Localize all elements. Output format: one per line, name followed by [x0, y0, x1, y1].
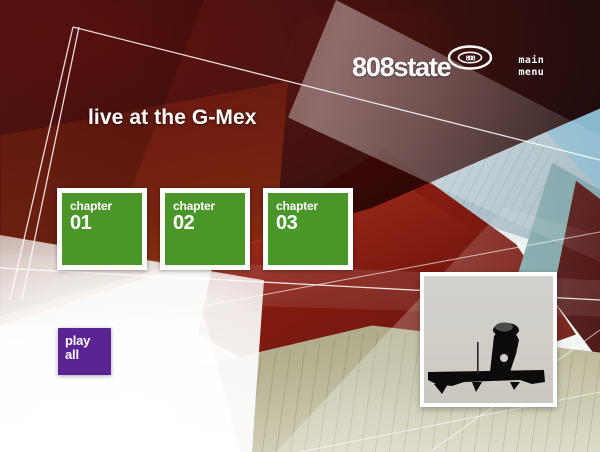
chapter-number-03: 03	[276, 213, 348, 234]
chapter-number-02: 02	[173, 213, 245, 234]
chapter-tile-03: chapter 03	[268, 193, 348, 265]
chapter-tile-01: chapter 01	[62, 193, 142, 265]
chapter-tile-02: chapter 02	[165, 193, 245, 265]
main-menu-label-line1: main	[518, 55, 544, 67]
chapter-number-01: 01	[70, 213, 142, 234]
svg-text:808: 808	[465, 55, 475, 63]
preview-thumbnail[interactable]	[420, 272, 557, 407]
play-all-line1: play	[65, 334, 111, 348]
play-all-line2: all	[65, 348, 111, 362]
play-all-button[interactable]: play all	[58, 328, 111, 375]
main-menu-label[interactable]: main menu	[518, 55, 544, 79]
chapter-button-02[interactable]: chapter 02	[160, 188, 250, 270]
preview-thumbnail-image	[424, 276, 553, 403]
dvd-menu-screen: live at the G-Mex 808state 808 main menu…	[0, 0, 600, 452]
main-menu-label-line2: menu	[518, 67, 544, 79]
page-title: live at the G-Mex	[88, 106, 257, 130]
airliner-silhouette-icon	[424, 276, 553, 403]
chapter-button-03[interactable]: chapter 03	[263, 188, 353, 270]
oval-swoosh-808-icon: 808	[447, 44, 493, 71]
logo-808state-text: 808state	[352, 52, 450, 82]
logo-808state: 808state 808	[352, 50, 450, 81]
chapter-list: chapter 01 chapter 02 chapter 03	[57, 188, 353, 270]
brand-header: 808state 808 main menu	[352, 50, 544, 81]
chapter-button-01[interactable]: chapter 01	[57, 188, 147, 270]
